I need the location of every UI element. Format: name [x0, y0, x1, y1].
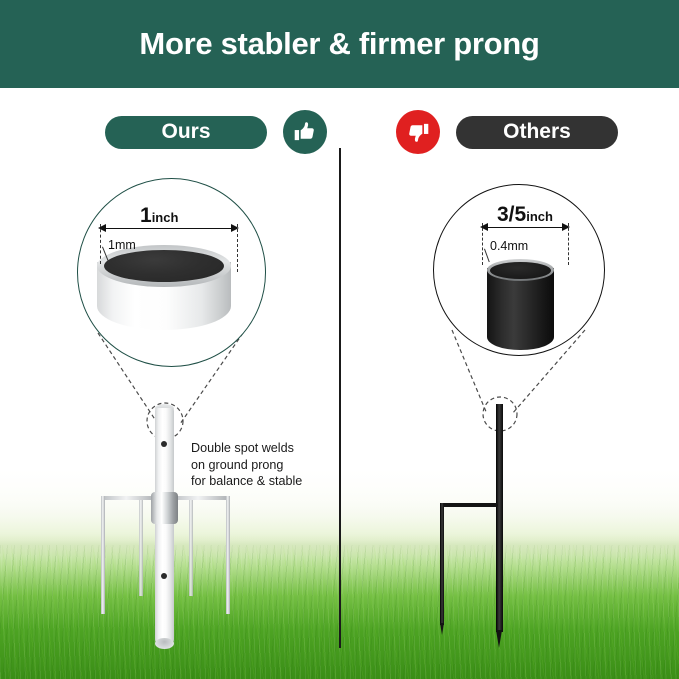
header-banner: More stabler & firmer prong [0, 0, 679, 88]
others-badge-row: Others [396, 110, 618, 158]
ours-dimension-unit: inch [152, 210, 179, 225]
ours-weld-dot-lower [161, 573, 167, 579]
ours-prong-left-leg [101, 496, 105, 614]
ours-prong-inner-right [189, 500, 193, 596]
ours-post-foot [155, 638, 174, 649]
ours-dimension-label: 1inch [140, 204, 178, 228]
others-dimension-unit: inch [526, 209, 553, 224]
others-tube-hole [490, 262, 551, 279]
ours-prong-left-arm [101, 496, 157, 500]
others-prong-leg [440, 503, 444, 625]
ours-dimension-arrow [100, 228, 237, 229]
thumbs-down-icon [396, 110, 440, 154]
ours-annotation-line-3: for balance & stable [191, 473, 302, 490]
others-dimension-tick-right [568, 223, 569, 265]
ours-prong-right-arm [172, 496, 230, 500]
product-comparison-infographic: More stabler & firmer prong Ours Others [0, 0, 679, 679]
ours-prong-right-leg [226, 496, 230, 614]
ours-annotation-line-1: Double spot welds [191, 440, 302, 457]
ours-dimension-tick-right [237, 224, 238, 272]
thumbs-up-icon [283, 110, 327, 154]
ours-weld-dot-upper [161, 441, 167, 447]
ours-dimension-value: 1 [140, 204, 152, 227]
ours-annotation: Double spot welds on ground prong for ba… [191, 440, 302, 490]
center-divider [339, 148, 341, 648]
ours-wall-thickness-label: 1mm [108, 238, 136, 252]
others-dimension-arrow [482, 227, 568, 228]
others-wall-thickness-label: 0.4mm [490, 239, 528, 253]
others-prong-tip [440, 623, 444, 635]
others-dimension-value: 3/5 [497, 203, 526, 226]
others-stake-body [496, 404, 503, 632]
ours-badge: Ours [105, 116, 267, 149]
others-badge: Others [456, 116, 618, 149]
ours-annotation-line-2: on ground prong [191, 457, 302, 474]
ours-prong-inner-left [139, 500, 143, 596]
ours-weld-collar [151, 492, 178, 524]
others-stake-tip [496, 630, 502, 648]
others-prong-arm [440, 503, 498, 507]
ours-badge-row: Ours [105, 110, 327, 158]
ours-dimension-tick-left [100, 224, 101, 264]
others-dimension-label: 3/5inch [497, 203, 553, 227]
ours-tube-hole [104, 250, 224, 282]
others-dimension-tick-left [482, 223, 483, 265]
page-title: More stabler & firmer prong [139, 26, 539, 62]
